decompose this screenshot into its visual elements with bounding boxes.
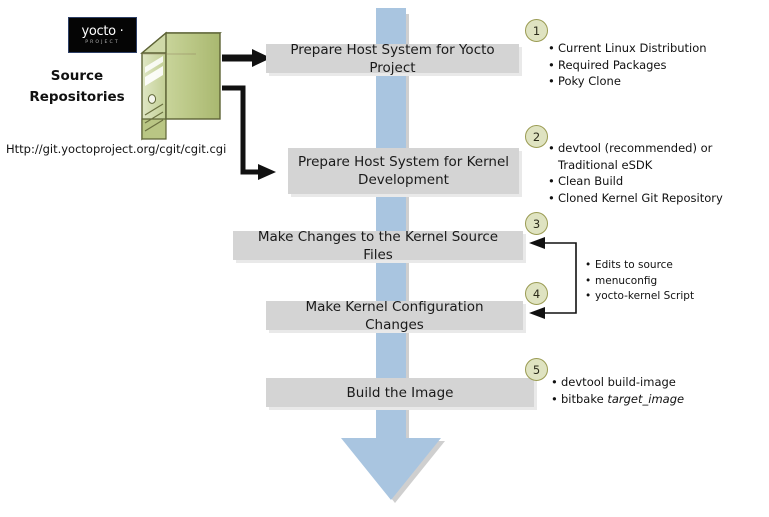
note-text: Required Packages (558, 57, 707, 74)
process-box-step-1-label: Prepare Host System for Yocto Project (274, 41, 511, 77)
process-box-step-5[interactable]: Build the Image (266, 378, 534, 407)
list-item: • menuconfig (585, 274, 694, 290)
bullet-dot: • (551, 374, 561, 391)
list-item: • Edits to source (585, 258, 694, 274)
process-box-step-2[interactable]: Prepare Host System for Kernel Developme… (288, 148, 519, 194)
note-text: Clean Build (558, 173, 723, 190)
process-box-step-1[interactable]: Prepare Host System for Yocto Project (266, 44, 519, 73)
bullet-dot: • (548, 140, 558, 157)
step-badge-4-number: 4 (533, 287, 540, 301)
list-item: • Cloned Kernel Git Repository (548, 190, 723, 207)
step-badge-3: 3 (525, 212, 548, 235)
process-box-step-4-label: Make Kernel Configuration Changes (274, 298, 515, 334)
bullet-dot: • (548, 73, 558, 90)
list-item: • bitbake target_image (551, 391, 684, 408)
process-box-step-2-label: Prepare Host System for Kernel Developme… (296, 153, 511, 189)
note-text: menuconfig (595, 274, 694, 290)
step-badge-1: 1 (525, 19, 548, 42)
step-badge-4: 4 (525, 282, 548, 305)
step-badge-1-number: 1 (533, 24, 540, 38)
note-text: Cloned Kernel Git Repository (558, 190, 723, 207)
bullet-dot: • (548, 40, 558, 57)
note-text-emphasis: target_image (607, 392, 684, 406)
note-text: Edits to source (595, 258, 694, 274)
kernel-development-workflow-diagram: yocto · PROJECT Source Repositories Http… (0, 0, 769, 517)
process-box-step-4[interactable]: Make Kernel Configuration Changes (266, 301, 523, 330)
step-badge-2-number: 2 (533, 130, 540, 144)
list-item: • devtool build-image (551, 374, 684, 391)
step-1-notes: • Current Linux Distribution • Required … (548, 40, 707, 90)
step-badge-5-number: 5 (533, 363, 540, 377)
bullet-dot: • (551, 391, 561, 408)
bullet-dot: • (548, 173, 558, 190)
shared-kernel-notes: • Edits to source • menuconfig • yocto-k… (585, 258, 694, 305)
note-text: yocto-kernel Script (595, 289, 694, 305)
note-text: devtool (recommended) or (558, 140, 723, 157)
list-item: • Required Packages (548, 57, 707, 74)
note-text-continuation: Traditional eSDK (548, 157, 723, 174)
bullet-dot: • (585, 258, 595, 274)
process-box-step-5-label: Build the Image (347, 384, 454, 402)
note-text: Poky Clone (558, 73, 707, 90)
list-item: • yocto-kernel Script (585, 289, 694, 305)
step-badge-3-number: 3 (533, 217, 540, 231)
bullet-dot: • (548, 190, 558, 207)
bullet-dot: • (548, 57, 558, 74)
note-text: Current Linux Distribution (558, 40, 707, 57)
list-item: • Current Linux Distribution (548, 40, 707, 57)
list-item: • devtool (recommended) or (548, 140, 723, 157)
bullet-dot: • (585, 274, 595, 290)
step-5-notes: • devtool build-image • bitbake target_i… (551, 374, 684, 407)
step-2-notes: • devtool (recommended) or Traditional e… (548, 140, 723, 206)
process-box-step-3-label: Make Changes to the Kernel Source Files (241, 228, 515, 264)
list-item: • Clean Build (548, 173, 723, 190)
bullet-dot: • (585, 289, 595, 305)
step-badge-2: 2 (525, 125, 548, 148)
note-text: bitbake (561, 392, 607, 406)
note-text: devtool build-image (561, 374, 684, 391)
step-badge-5: 5 (525, 358, 548, 381)
process-box-step-3[interactable]: Make Changes to the Kernel Source Files (233, 231, 523, 260)
list-item: • Poky Clone (548, 73, 707, 90)
